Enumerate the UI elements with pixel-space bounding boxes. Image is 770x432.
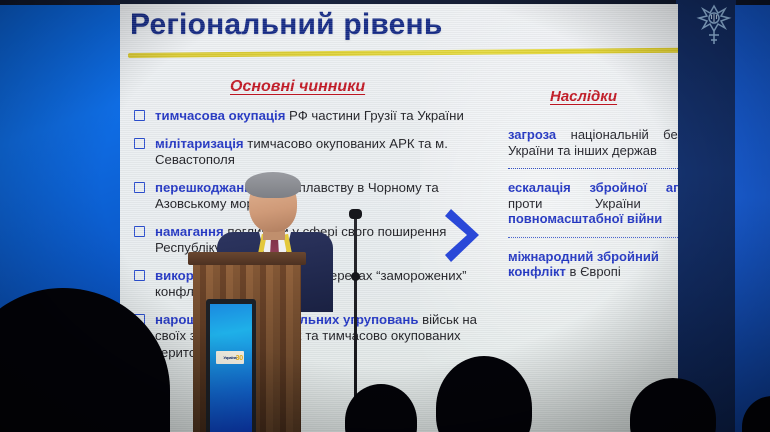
speaker-podium: Україна 30 bbox=[188, 252, 306, 432]
right-column-heading: Наслідки bbox=[550, 88, 617, 105]
podium-screen bbox=[210, 304, 252, 432]
blue-chevron-arrow-icon bbox=[443, 205, 489, 267]
list-item-emphasis: ескалація збройної агресії bbox=[508, 180, 678, 195]
title-underline-rule bbox=[128, 47, 678, 58]
ukraine-military-cross-emblem-icon bbox=[694, 2, 734, 46]
checkbox-bullet-icon bbox=[134, 110, 145, 121]
stage-backdrop-navy-band bbox=[676, 0, 736, 432]
dotted-divider bbox=[508, 234, 678, 241]
podium-screen-logo: Україна 30 bbox=[216, 351, 244, 364]
checkbox-bullet-icon bbox=[134, 182, 145, 193]
microphone-adjust-knob bbox=[351, 272, 360, 281]
dotted-divider bbox=[508, 165, 678, 172]
podium-top-surface bbox=[188, 252, 306, 265]
list-item: тимчасова окупація РФ частини Грузії та … bbox=[132, 108, 477, 125]
checkbox-bullet-icon bbox=[134, 226, 145, 237]
list-item-text: в Європі bbox=[566, 264, 621, 279]
list-item-text: РФ частини Грузії та України bbox=[285, 108, 463, 123]
list-item: ескалація збройної агресії проти України… bbox=[508, 179, 678, 232]
left-column-heading: Основні чинники bbox=[230, 78, 365, 96]
slide-title: Регіональний рівень bbox=[130, 8, 600, 42]
list-item-emphasis-2: повномасштабної війни bbox=[508, 211, 662, 226]
stage-backdrop-right bbox=[735, 5, 770, 432]
speaker-hair bbox=[245, 172, 301, 198]
list-item: загроза національній безпеці України та … bbox=[508, 126, 678, 163]
consequences-list: загроза національній безпеці України та … bbox=[508, 126, 678, 285]
presentation-photo: Регіональний рівень Основні чинники тимч… bbox=[0, 0, 770, 432]
list-item-emphasis: тимчасова окупація bbox=[155, 108, 285, 123]
microphone-head-icon bbox=[349, 209, 362, 219]
checkbox-bullet-icon bbox=[134, 270, 145, 281]
list-item-emphasis: мілітаризація bbox=[155, 136, 244, 151]
list-item-emphasis: загроза bbox=[508, 127, 556, 142]
podium-logo-number: 30 bbox=[236, 355, 243, 362]
list-item-text: проти України до bbox=[508, 196, 678, 211]
list-item: міжнародний збройний конфлікт в Європі bbox=[508, 248, 678, 285]
list-item: мілітаризація тимчасово окупованих АРК т… bbox=[132, 136, 477, 169]
checkbox-bullet-icon bbox=[134, 138, 145, 149]
